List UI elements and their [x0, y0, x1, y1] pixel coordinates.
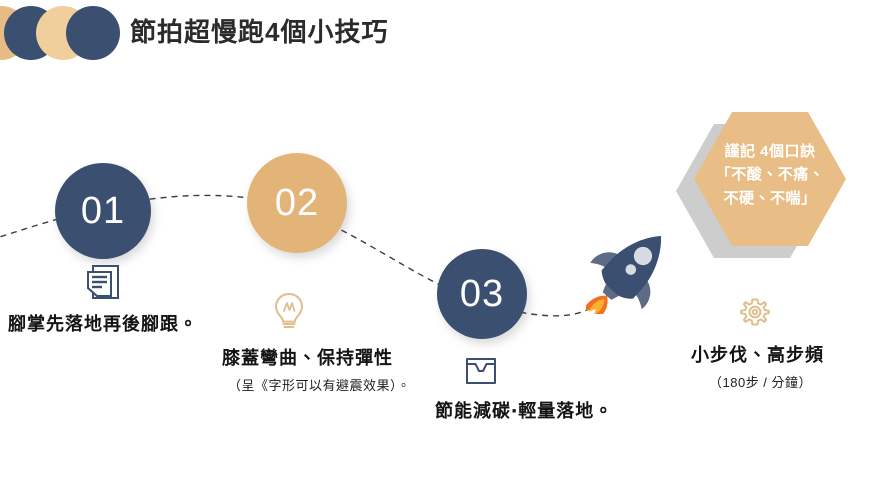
infographic-canvas: 節拍超慢跑4個小技巧 01 02 03 — [0, 0, 890, 486]
step-subcaption-2: （呈《字形可以有避震效果）。 — [228, 375, 411, 394]
step-node-02[interactable]: 02 — [247, 153, 347, 253]
lightbulb-icon — [272, 291, 306, 331]
gear-icon — [737, 295, 773, 331]
badge-line-3: 不硬、不喘」 — [694, 187, 846, 210]
header-decor-circles — [0, 4, 118, 64]
step-node-01[interactable]: 01 — [55, 163, 151, 259]
inbox-tray-icon — [463, 355, 499, 387]
rocket-icon — [586, 218, 682, 314]
badge-line-1: 謹記 4個口訣 — [694, 140, 846, 163]
badge-line-2: 「不酸、不痛、 — [694, 163, 846, 186]
document-icon — [84, 263, 122, 305]
header-dot-4 — [66, 6, 120, 60]
badge-text: 謹記 4個口訣 「不酸、不痛、 不硬、不喘」 — [694, 140, 846, 210]
key-message-badge: 謹記 4個口訣 「不酸、不痛、 不硬、不喘」 — [672, 112, 852, 257]
step-node-03[interactable]: 03 — [437, 249, 527, 339]
step-node-02-label: 02 — [275, 182, 319, 225]
step-caption-3: 節能減碳‧輕量落地。 — [435, 397, 613, 423]
step-caption-1: 腳掌先落地再後腳跟。 — [8, 310, 198, 336]
step-node-03-label: 03 — [460, 273, 504, 316]
step-caption-4: 小步伐、高步頻 — [691, 341, 824, 367]
step-caption-2: 膝蓋彎曲、保持彈性 — [222, 344, 393, 370]
page-title: 節拍超慢跑4個小技巧 — [130, 12, 388, 49]
step-node-01-label: 01 — [81, 190, 125, 233]
step-subcaption-4: （180步 / 分鐘） — [709, 372, 812, 391]
